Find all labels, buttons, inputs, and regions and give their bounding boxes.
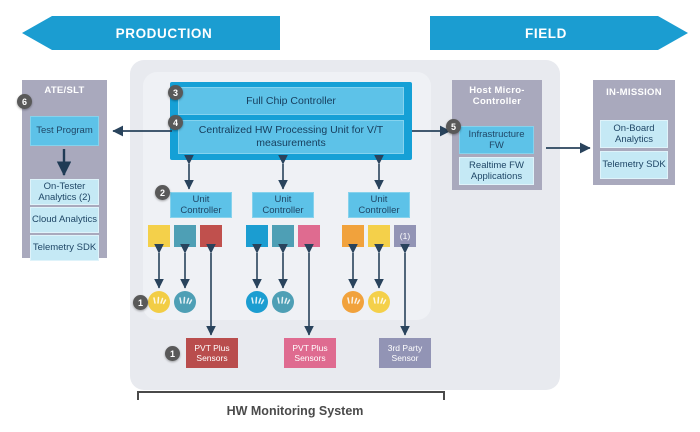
badge-1-boxes: 1 (165, 346, 180, 361)
full-chip-controller-box[interactable]: Full Chip Controller (178, 87, 404, 115)
on-board-analytics-label: On-Board Analytics (601, 123, 667, 145)
unit-controller-3[interactable]: Unit Controller (348, 192, 410, 218)
ip-square-1-3[interactable] (200, 225, 222, 247)
telemetry-sdk-label-inmission: Telemetry SDK (602, 159, 665, 170)
pvt-plus-sensors-box-1[interactable]: PVT Plus Sensors (186, 338, 238, 368)
ip-square-3-3[interactable]: (1) (394, 225, 416, 247)
ip-square-2-1[interactable] (246, 225, 268, 247)
centralized-hw-processing-unit-label: Centralized HW Processing Unit for V/T m… (179, 124, 403, 149)
unit-controller-3-label: Unit Controller (349, 194, 409, 216)
badge-3: 3 (168, 85, 183, 100)
badge-4: 4 (168, 115, 183, 130)
pvt-plus-sensors-label-1: PVT Plus Sensors (186, 343, 238, 363)
ip-square-1-1[interactable] (148, 225, 170, 247)
field-banner-label: FIELD (525, 26, 567, 41)
realtime-fw-applications-box[interactable]: Realtime FW Applications (459, 157, 534, 185)
sensor-circle-2-1[interactable] (246, 291, 268, 313)
on-board-analytics-box[interactable]: On-Board Analytics (600, 120, 668, 148)
centralized-hw-processing-unit-box[interactable]: Centralized HW Processing Unit for V/T m… (178, 120, 404, 154)
ip-square-2-3[interactable] (298, 225, 320, 247)
production-banner: PRODUCTION (22, 16, 280, 50)
production-banner-label: PRODUCTION (116, 26, 213, 41)
badge-5: 5 (446, 119, 461, 134)
test-program-label: Test Program (36, 125, 93, 136)
sensor-circle-3-1[interactable] (342, 291, 364, 313)
badge-1-circles: 1 (133, 295, 148, 310)
badge-2: 2 (155, 185, 170, 200)
sensor-circle-3-2[interactable] (368, 291, 390, 313)
chip-controller-block: Full Chip Controller Centralized HW Proc… (170, 82, 412, 160)
pvt-plus-sensors-label-2: PVT Plus Sensors (284, 343, 336, 363)
hw-monitoring-system-caption: HW Monitoring System (130, 404, 460, 418)
ip-square-1-2[interactable] (174, 225, 196, 247)
full-chip-controller-label: Full Chip Controller (246, 95, 336, 108)
test-program-box[interactable]: Test Program (30, 116, 99, 146)
telemetry-sdk-label-ate: Telemetry SDK (33, 242, 96, 253)
cloud-analytics-box[interactable]: Cloud Analytics (30, 207, 99, 233)
host-micro-controller-title: Host Micro-Controller (452, 86, 542, 108)
ip-square-2-2[interactable] (272, 225, 294, 247)
ip-square-3-3-label: (1) (400, 231, 410, 241)
on-tester-analytics-box[interactable]: On-Tester Analytics (2) (30, 179, 99, 205)
cloud-analytics-label: Cloud Analytics (32, 214, 97, 225)
telemetry-sdk-box-inmission[interactable]: Telemetry SDK (600, 151, 668, 179)
unit-controller-2-label: Unit Controller (253, 194, 313, 216)
infrastructure-fw-box[interactable]: Infrastructure FW (459, 126, 534, 154)
sensor-circle-2-2[interactable] (272, 291, 294, 313)
telemetry-sdk-box-ate[interactable]: Telemetry SDK (30, 235, 99, 261)
third-party-sensor-label: 3rd Party Sensor (379, 343, 431, 363)
unit-controller-1-label: Unit Controller (171, 194, 231, 216)
unit-controller-1[interactable]: Unit Controller (170, 192, 232, 218)
third-party-sensor-box[interactable]: 3rd Party Sensor (379, 338, 431, 368)
sensor-circle-1-2[interactable] (174, 291, 196, 313)
badge-6: 6 (17, 94, 32, 109)
infrastructure-fw-label: Infrastructure FW (460, 129, 533, 151)
in-mission-title: IN-MISSION (593, 88, 675, 99)
unit-controller-2[interactable]: Unit Controller (252, 192, 314, 218)
pvt-plus-sensors-box-2[interactable]: PVT Plus Sensors (284, 338, 336, 368)
ate-slt-panel-title: ATE/SLT (22, 86, 107, 97)
sensor-circle-1-1[interactable] (148, 291, 170, 313)
ip-square-3-2[interactable] (368, 225, 390, 247)
on-tester-analytics-label: On-Tester Analytics (2) (31, 181, 98, 203)
ip-square-3-1[interactable] (342, 225, 364, 247)
field-banner: FIELD (430, 16, 688, 50)
realtime-fw-applications-label: Realtime FW Applications (460, 160, 533, 182)
